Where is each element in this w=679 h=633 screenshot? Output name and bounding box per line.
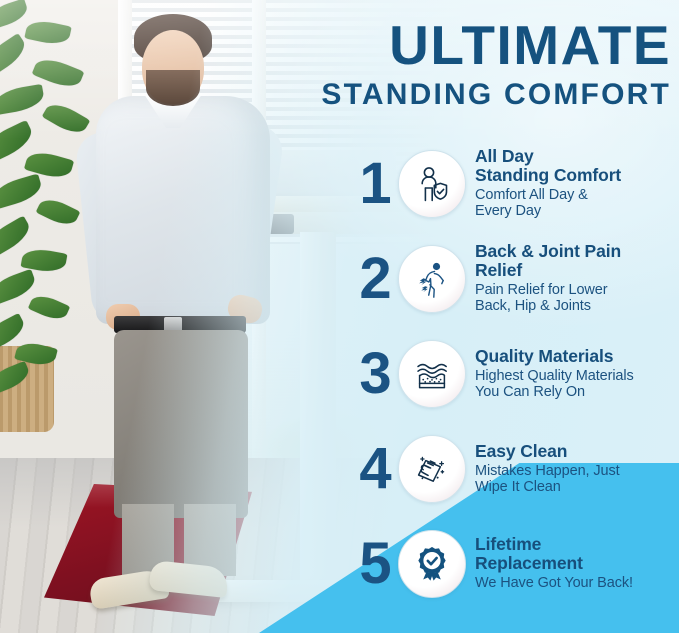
feature-sub-2-line-1: Pain Relief for Lower	[475, 282, 608, 298]
feature-text-2: Back & Joint Pain Relief Pain Relief for…	[475, 242, 679, 314]
hand-wipe-sparkle-icon	[398, 435, 466, 503]
feature-title-2-line-2: Relief	[475, 260, 522, 280]
feature-subtitle-4: Mistakes Happen, Just Wipe It Clean	[475, 463, 679, 495]
feature-title-2-line-1: Back & Joint Pain	[475, 241, 621, 261]
foam-layers-icon	[398, 340, 466, 408]
back-pain-person-icon	[398, 245, 466, 313]
feature-item-2: 2 Back & Joint Pain Relief	[352, 231, 679, 326]
feature-number-3: 3	[352, 345, 398, 403]
feature-sub-4-line-2: Wipe It Clean	[475, 479, 561, 495]
beard	[146, 70, 200, 106]
model-person	[78, 4, 308, 564]
award-badge-check-icon	[398, 530, 466, 598]
feature-number-1: 1	[352, 155, 398, 213]
feature-subtitle-2: Pain Relief for Lower Back, Hip & Joints	[475, 282, 679, 314]
feature-title-1-line-1: All Day	[475, 146, 534, 166]
feature-title-5-line-1: Lifetime	[475, 534, 541, 554]
feature-sub-2-line-2: Back, Hip & Joints	[475, 298, 591, 314]
feature-title-5: Lifetime Replacement	[475, 535, 679, 573]
feature-number-4: 4	[352, 440, 398, 498]
headline-line-1: ULTIMATE	[321, 18, 671, 73]
feature-text-1: All Day Standing Comfort Comfort All Day…	[475, 147, 679, 219]
feature-title-3: Quality Materials	[475, 347, 679, 366]
feature-item-5: 5 Lifetime Replacement We Have Got Your …	[352, 516, 679, 611]
dress-shirt	[96, 96, 270, 324]
feature-title-1-line-2: Standing Comfort	[475, 165, 621, 185]
feature-number-2: 2	[352, 250, 398, 308]
feature-list: 1 All Day Standing Comfort Comfort All	[352, 136, 679, 611]
trousers	[114, 330, 248, 518]
feature-subtitle-3: Highest Quality Materials You Can Rely O…	[475, 368, 679, 400]
feature-subtitle-1: Comfort All Day & Every Day	[475, 187, 679, 219]
feature-text-4: Easy Clean Mistakes Happen, Just Wipe It…	[475, 442, 679, 495]
feature-subtitle-5: We Have Got Your Back!	[475, 575, 679, 591]
headline-line-2: STANDING COMFORT	[321, 80, 671, 110]
page-title: ULTIMATE STANDING COMFORT	[321, 18, 671, 110]
feature-item-1: 1 All Day Standing Comfort Comfort All	[352, 136, 679, 231]
feature-title-2: Back & Joint Pain Relief	[475, 242, 679, 280]
feature-sub-3-line-1: Highest Quality Materials	[475, 368, 634, 384]
person-shield-icon	[398, 150, 466, 218]
feature-sub-1-line-1: Comfort All Day &	[475, 187, 588, 203]
feature-number-5: 5	[352, 535, 398, 593]
feature-sub-3-line-2: You Can Rely On	[475, 384, 585, 400]
feature-sub-4-line-1: Mistakes Happen, Just	[475, 463, 620, 479]
product-infographic: ULTIMATE STANDING COMFORT 1 All Day	[0, 0, 679, 633]
feature-title-4: Easy Clean	[475, 442, 679, 461]
feature-item-3: 3 Quality M	[352, 326, 679, 421]
feature-title-1: All Day Standing Comfort	[475, 147, 679, 185]
feature-item-4: 4 Easy Clean	[352, 421, 679, 516]
feature-text-3: Quality Materials Highest Quality Materi…	[475, 347, 679, 400]
feature-sub-1-line-2: Every Day	[475, 203, 541, 219]
feature-title-5-line-2: Replacement	[475, 553, 583, 573]
feature-text-5: Lifetime Replacement We Have Got Your Ba…	[475, 535, 679, 591]
